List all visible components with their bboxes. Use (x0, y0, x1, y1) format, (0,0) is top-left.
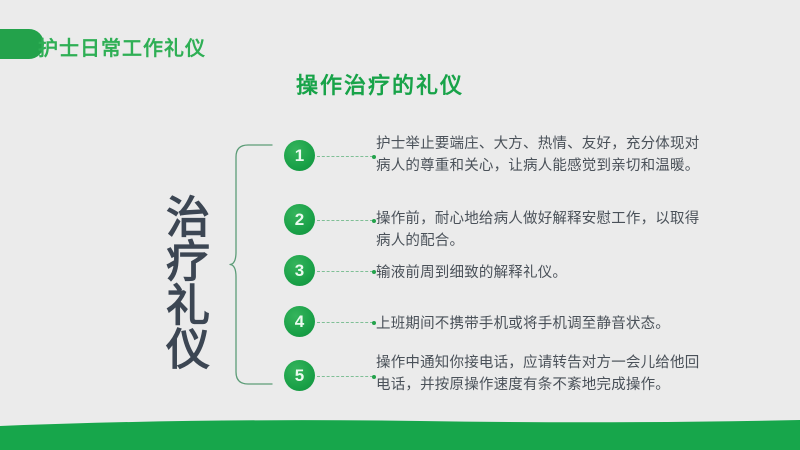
list-item-text-5: 操作中通知你接电话，应请转告对方一会儿给他回电话，并按原操作速度有条不紊地完成操… (376, 352, 706, 396)
list-item-text-2: 操作前，耐心地给病人做好解释安慰工作，以取得病人的配合。 (376, 208, 706, 252)
connector-line-4 (317, 322, 373, 324)
bullet-number-5[interactable]: 5 (284, 360, 315, 391)
connector-line-5 (317, 376, 373, 378)
connector-line-3 (317, 271, 373, 273)
bottom-accent-bar (0, 416, 800, 450)
bullet-number-3[interactable]: 3 (284, 255, 315, 286)
list-item-text-3: 输液前周到细致的解释礼仪。 (376, 262, 706, 284)
list-item-text-4: 上班期间不携带手机或将手机调至静音状态。 (376, 313, 721, 335)
slide-canvas: 护士日常工作礼仪 操作治疗的礼仪 治疗礼仪 1 护士举止要端庄、大方、热情、友好… (0, 0, 800, 450)
numbered-list: 1 护士举止要端庄、大方、热情、友好，充分体现对病人的尊重和关心，让病人能感觉到… (0, 0, 800, 450)
list-item-text-1: 护士举止要端庄、大方、热情、友好，充分体现对病人的尊重和关心，让病人能感觉到亲切… (376, 133, 706, 177)
connector-line-2 (317, 220, 373, 222)
bullet-number-2[interactable]: 2 (284, 204, 315, 235)
bullet-number-1[interactable]: 1 (284, 140, 315, 171)
bullet-number-4[interactable]: 4 (284, 306, 315, 337)
connector-line-1 (317, 156, 373, 158)
